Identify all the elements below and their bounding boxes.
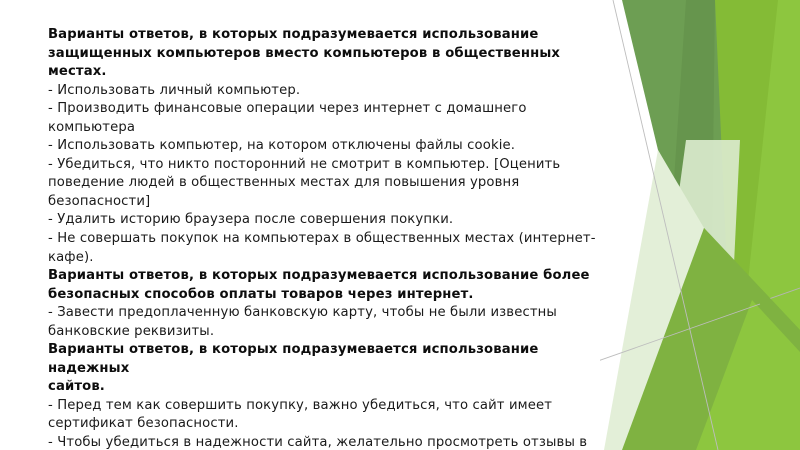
shape-bright-lower-right [692, 300, 800, 450]
text-line: Варианты ответов, в которых подразумевае… [48, 26, 600, 45]
text-line: - Убедиться, что никто посторонний не см… [48, 156, 600, 175]
text-line: защищенных компьютеров вместо компьютеро… [48, 45, 600, 82]
text-line: компьютера [48, 119, 600, 138]
shape-white-cutout [600, 0, 622, 450]
text-line: Варианты ответов, в которых подразумевае… [48, 341, 600, 378]
shape-pale-wedge-2 [644, 140, 740, 450]
thin-line-diagonal-long-top [613, 0, 718, 450]
text-line: - Завести предоплаченную банковскую карт… [48, 304, 600, 323]
shape-mid-lower [610, 228, 800, 450]
shape-bright-wedge [655, 0, 778, 450]
shape-dark-overlap [672, 0, 715, 250]
text-line: сайтов. [48, 378, 600, 397]
shape-dark-wedge [620, 0, 735, 450]
shape-bright-lower-right-b [696, 300, 800, 450]
text-line: - Удалить историю браузера после соверше… [48, 211, 600, 230]
shape-white-cutout-2 [600, 0, 658, 450]
thin-line-diagonal-long [613, 0, 720, 450]
decorative-green-graphic [600, 0, 800, 450]
text-line: - Использовать компьютер, на котором отк… [48, 137, 600, 156]
text-line: кафе). [48, 249, 600, 268]
text-line: поведение людей в общественных местах дл… [48, 174, 600, 193]
slide-body-text: Варианты ответов, в которых подразумевае… [48, 26, 600, 450]
text-line: - Использовать личный компьютер. [48, 82, 600, 101]
text-line: - Производить финансовые операции через … [48, 100, 600, 119]
text-line: безопасных способов оплаты товаров через… [48, 286, 600, 305]
decor-svg [600, 0, 800, 450]
text-line: Варианты ответов, в которых подразумевае… [48, 267, 600, 286]
text-line: сертификат безопасности. [48, 415, 600, 434]
text-line: банковские реквизиты. [48, 323, 600, 342]
thin-line-right [718, 268, 732, 450]
shape-pale-wedge-b [604, 150, 704, 450]
text-line: - Перед тем как совершить покупку, важно… [48, 397, 600, 416]
thin-line-diagonal-shallow [600, 288, 800, 360]
text-line: - Не совершать покупок на компьютерах в … [48, 230, 600, 249]
shape-mid-lower-b [622, 228, 800, 450]
shape-pale-wedge [600, 150, 702, 450]
shape-bright-right [720, 0, 800, 450]
text-line: - Чтобы убедиться в надежности сайта, же… [48, 434, 600, 450]
thin-line-diagonal-shallow-top [600, 304, 760, 362]
slide: Варианты ответов, в которых подразумевае… [0, 0, 800, 450]
text-line: безопасности] [48, 193, 600, 212]
text-line-container: Варианты ответов, в которых подразумевае… [48, 26, 600, 450]
